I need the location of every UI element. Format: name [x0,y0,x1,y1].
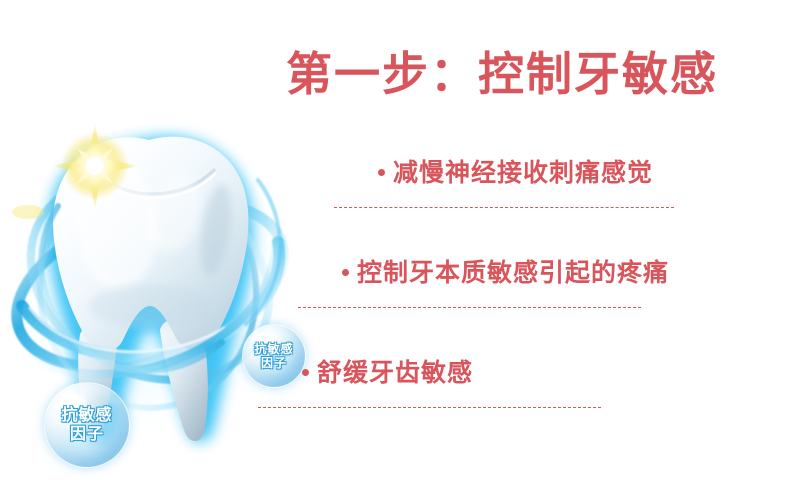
benefit-item-2: 控制牙本质敏感引起的疼痛 [342,260,669,288]
bullet-dot-icon-1 [378,169,385,176]
benefit-item-1: 减慢神经接收刺痛感觉 [378,160,653,188]
bullet-dot-icon-2 [342,269,349,276]
benefit-divider-1 [334,207,674,208]
benefit-text-3: 舒缓牙齿敏感 [302,360,473,388]
bubble-anti-sensitivity-right: 抗敏感 因子 [242,324,306,388]
bubble-anti-sensitivity-left: 抗敏感 因子 [44,382,130,468]
bubble-right-line-1: 抗敏感 [254,342,293,356]
benefit-label-1: 减慢神经接收刺痛感觉 [393,159,653,187]
bubble-left-line-2: 因子 [70,425,104,444]
poster-canvas: 抗敏感 因子 抗敏感 因子 第一步：控制牙敏感 减慢神经接收刺痛感觉 控制牙本质… [0,0,790,480]
bubble-left-line-1: 抗敏感 [61,406,112,425]
benefit-item-3: 舒缓牙齿敏感 [302,360,473,388]
benefit-label-2: 控制牙本质敏感引起的疼痛 [357,259,669,287]
benefit-divider-2 [298,307,641,308]
benefit-divider-3 [258,407,601,408]
bubble-right-line-2: 因子 [261,356,287,370]
bullet-dot-icon-3 [302,369,309,376]
benefit-text-2: 控制牙本质敏感引起的疼痛 [342,260,669,288]
benefit-text-1: 减慢神经接收刺痛感觉 [378,160,653,188]
benefit-label-3: 舒缓牙齿敏感 [317,359,473,387]
sparkle-flare [12,205,44,219]
tooth-illustration: 抗敏感 因子 抗敏感 因子 [0,110,330,455]
page-title: 第一步：控制牙敏感 [286,49,718,100]
